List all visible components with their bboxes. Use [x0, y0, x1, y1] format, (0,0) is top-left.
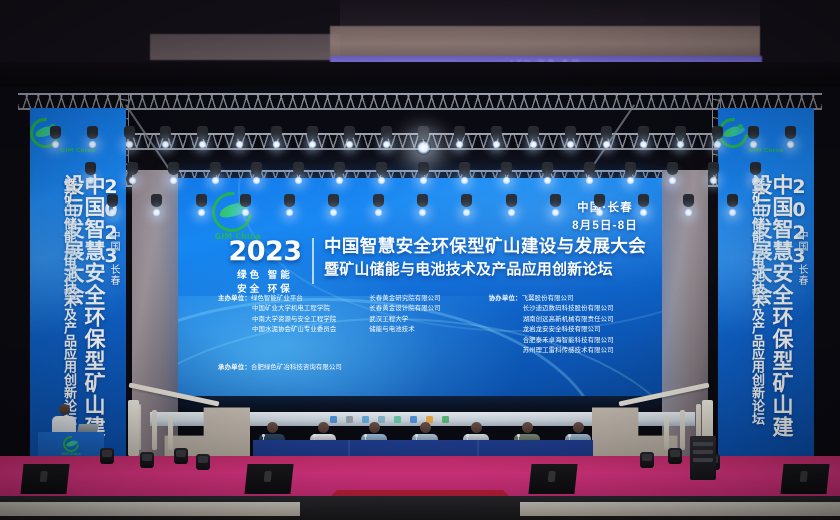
light-fixture [376, 162, 387, 175]
screen-motto-line1: 绿色 智能 [226, 269, 304, 283]
screen-year-block: 2023 绿色 智能 安全 环保 [226, 238, 304, 298]
banner-right-subtitle: 暨矿山储能与电池技术及产品应用创新论坛 [751, 178, 764, 425]
balustrade-left [128, 392, 220, 450]
moving-head-3 [174, 448, 188, 464]
stage-lamp [551, 208, 560, 217]
stage-lamp [751, 176, 760, 185]
host-item-0: 绿色智能矿业平台 [251, 295, 303, 302]
gim-logo-banner-left: GIM China [30, 118, 126, 148]
undertaker-label: 承办单位： [218, 364, 251, 371]
light-fixture [196, 194, 207, 207]
cohost-column: 协办单位：飞翼股份有限公司 长沙迪迈数码科技股份有限公司 湖南创远高新机械有限责… [489, 294, 628, 356]
organizer-credits: 主办单位：绿色智能矿业平台 中国矿业大学机电工程学院 中南大学资源与安全工程学院… [218, 294, 628, 374]
light-fixture [638, 194, 649, 207]
cohost-line-1: 协办单位：飞翼股份有限公司 [489, 294, 628, 304]
light-fixture [708, 162, 719, 175]
light-fixture [550, 194, 561, 207]
stage-lamp [416, 140, 431, 155]
balcony-wall-secondary [150, 34, 340, 60]
host-item-3: 中国水泥协会矿山专业委员会 [218, 325, 369, 335]
light-fixture [107, 194, 118, 207]
light-fixture [638, 126, 649, 139]
stage-lamp [728, 208, 737, 217]
stage-lamp [197, 208, 206, 217]
cohost-item-3: 龙岩龙安安全科技有限公司 [489, 325, 628, 335]
moving-head-5 [640, 452, 654, 468]
screen-location: 中国·长春 [572, 200, 638, 218]
organizer-row-2: 承办单位：合肥绿色矿冶科技咨询有限公司 [218, 363, 628, 373]
band-app-icon [442, 416, 449, 423]
light-fixture [417, 194, 428, 207]
host-line-1: 主办单位：绿色智能矿业平台 [218, 294, 369, 304]
undertaker-column: 承办单位：合肥绿色矿冶科技咨询有限公司 [218, 363, 370, 373]
moving-head-6 [668, 448, 682, 464]
organizer-row-1: 主办单位：绿色智能矿业平台 中国矿业大学机电工程学院 中南大学资源与安全工程学院… [218, 294, 628, 356]
banner-left-subtitle: 暨矿山储能与电池技术及产品应用创新论坛 [63, 178, 76, 425]
banner-right-year: 2023 [789, 176, 808, 268]
light-fixture [240, 194, 251, 207]
stage-monitor-2 [244, 464, 293, 494]
light-fixture [87, 126, 98, 139]
stage-lamp [676, 140, 685, 149]
ceiling-shadow [0, 62, 840, 86]
moving-head-1 [100, 448, 114, 464]
host2-item-2: 武汉工程大学 [369, 315, 488, 325]
cohost-item-4: 合肥泰禾卓海智能科技有限公司 [489, 336, 628, 346]
host-column: 主办单位：绿色智能矿业平台 中国矿业大学机电工程学院 中南大学资源与安全工程学院… [218, 294, 369, 356]
host2-item-0: 长春黄金研究院有限公司 [369, 294, 488, 304]
light-fixture [151, 194, 162, 207]
host-column-2: 长春黄金研究院有限公司 长春黄金设计院有限公司 武汉工程大学 储能与电池技术 [369, 294, 488, 356]
stage-monitor-4 [780, 464, 829, 494]
stage-lamp [51, 140, 60, 149]
stage-lamp [272, 140, 281, 149]
light-fixture [461, 194, 472, 207]
light-fixture [454, 126, 465, 139]
gim-logo-podium: GIM China [63, 436, 79, 452]
banner-right: GIM China 2023 中国·长春 中国智慧安全环保型矿山建设与发展大会 … [718, 108, 814, 460]
front-step-right [520, 502, 840, 516]
light-fixture [307, 126, 318, 139]
cohost-item-5: 苏州理工雷科传感技术有限公司 [489, 346, 628, 356]
light-fixture [542, 162, 553, 175]
screen-dates: 8月5日-8日 [572, 218, 638, 236]
equipment-rack [690, 436, 716, 480]
stage-lamp [374, 208, 383, 217]
screen-title-divider [312, 238, 314, 284]
light-fixture [785, 126, 796, 139]
light-fixture [584, 162, 595, 175]
light-fixture [667, 162, 678, 175]
stage-lamp [502, 176, 511, 185]
panel-seat-head [573, 422, 584, 433]
band-app-icon [394, 416, 401, 423]
panel-seat-head [369, 422, 380, 433]
light-fixture [683, 194, 694, 207]
host2-item-1: 长春黄金设计院有限公司 [369, 304, 488, 314]
stage-lamp [668, 176, 677, 185]
banner-left-location: 中国·长春 [108, 230, 118, 286]
stage-lamp [460, 176, 469, 185]
moving-head-4 [196, 454, 210, 470]
light-fixture [373, 194, 384, 207]
light-fixture [334, 162, 345, 175]
light-fixture [271, 126, 282, 139]
gim-logo-text: GIM China [60, 148, 95, 154]
truss-top [18, 93, 822, 110]
stage-lamp [88, 140, 97, 149]
band-app-icon [346, 416, 353, 423]
light-fixture [168, 162, 179, 175]
light-fixture [50, 126, 61, 139]
light-fixture [127, 162, 138, 175]
cohost-item-0: 飞翼股份有限公司 [522, 295, 574, 302]
banner-left: GIM China 2023 中国·长春 中国智慧安全环保型矿山建设与发展大会 … [30, 108, 126, 460]
panel-seat-head [522, 422, 533, 433]
light-fixture [251, 162, 262, 175]
moving-head-2 [140, 452, 154, 468]
panel-seat-head [267, 422, 278, 433]
stage-lamp [786, 140, 795, 149]
stage-lamp [507, 208, 516, 217]
light-fixture [124, 126, 135, 139]
stage-lamp [418, 208, 427, 217]
cohost-label: 协办单位： [489, 295, 522, 302]
screen-location-block: 中国·长春 8月5日-8日 [572, 200, 638, 236]
light-fixture [459, 162, 470, 175]
stage-lamp [241, 208, 250, 217]
screen-title-main: 中国智慧安全环保型矿山建设与发展大会 [324, 236, 642, 258]
stage-lamp [125, 140, 134, 149]
stage-lamp [211, 176, 220, 185]
light-fixture [565, 126, 576, 139]
light-fixture [197, 126, 208, 139]
host-item-1: 中国矿业大学机电工程学院 [218, 304, 369, 314]
banner-left-year: 2023 [101, 176, 120, 268]
stage-lamp [529, 140, 538, 149]
light-fixture [160, 126, 171, 139]
stage-monitor-1 [20, 464, 69, 494]
stage-photo: LED 信息 条屏 GIM China 2023 中国·长春 中国智慧安全环保型… [0, 0, 840, 520]
stage-lamp [345, 140, 354, 149]
undertaker-value: 合肥绿色矿冶科技咨询有限公司 [251, 364, 342, 371]
cohost-item-2: 湖南创远高新机械有限责任公司 [489, 315, 628, 325]
panel-seat-head [318, 422, 329, 433]
stage-lamp [713, 140, 722, 149]
light-fixture [418, 162, 429, 175]
light-fixture [210, 162, 221, 175]
light-fixture [506, 194, 517, 207]
stage-monitor-3 [528, 464, 577, 494]
light-fixture [381, 126, 392, 139]
speaker-head [59, 404, 70, 415]
stage-lamp [108, 208, 117, 217]
light-fixture [491, 126, 502, 139]
light-fixture [284, 194, 295, 207]
stage-lamp [294, 176, 303, 185]
stage-lamp [382, 140, 391, 149]
host-item-2: 中南大学资源与安全工程学院 [218, 315, 369, 325]
light-fixture [418, 126, 429, 139]
stage-lamp [377, 176, 386, 185]
gim-logo-banner-right: GIM China [718, 118, 814, 148]
light-fixture [501, 162, 512, 175]
stage-lamp [684, 208, 693, 217]
light-fixture [528, 126, 539, 139]
speaker-at-podium [52, 404, 76, 434]
stage-lamp [86, 176, 95, 185]
banner-right-location: 中国·长春 [796, 230, 806, 286]
light-fixture [85, 162, 96, 175]
light-fixture [344, 126, 355, 139]
light-fixture [601, 126, 612, 139]
host-label: 主办单位： [218, 295, 251, 302]
stage-lamp [492, 140, 501, 149]
light-fixture [594, 194, 605, 207]
gim-logo-screen: 2023 GIM China [212, 192, 264, 240]
light-fixture [712, 126, 723, 139]
stage-lamp [235, 140, 244, 149]
panel-seat-head [471, 422, 482, 433]
light-fixture [675, 126, 686, 139]
stage-lamp [639, 140, 648, 149]
stage-lamp [419, 176, 428, 185]
light-fixture [750, 162, 761, 175]
stage-lamp [128, 176, 137, 185]
balcony-wall [330, 26, 760, 58]
ceiling-dark-right [760, 0, 840, 62]
light-fixture [328, 194, 339, 207]
front-step-left [0, 502, 300, 516]
light-fixture [748, 126, 759, 139]
screen-title-sub: 暨矿山储能与电池技术及产品应用创新论坛 [324, 260, 642, 280]
screen-title-block: 中国智慧安全环保型矿山建设与发展大会 暨矿山储能与电池技术及产品应用创新论坛 [324, 236, 642, 279]
stage-lamp [566, 140, 575, 149]
panel-seat-head [420, 422, 431, 433]
stage-lamp [198, 140, 207, 149]
light-fixture [234, 126, 245, 139]
light-fixture [293, 162, 304, 175]
light-fixture [727, 194, 738, 207]
cohost-item-1: 长沙迪迈数码科技股份有限公司 [489, 304, 628, 314]
light-fixture [625, 162, 636, 175]
stage-lamp [585, 176, 594, 185]
screen-year: 2023 [226, 238, 304, 265]
host2-item-3: 储能与电池技术 [369, 325, 488, 335]
